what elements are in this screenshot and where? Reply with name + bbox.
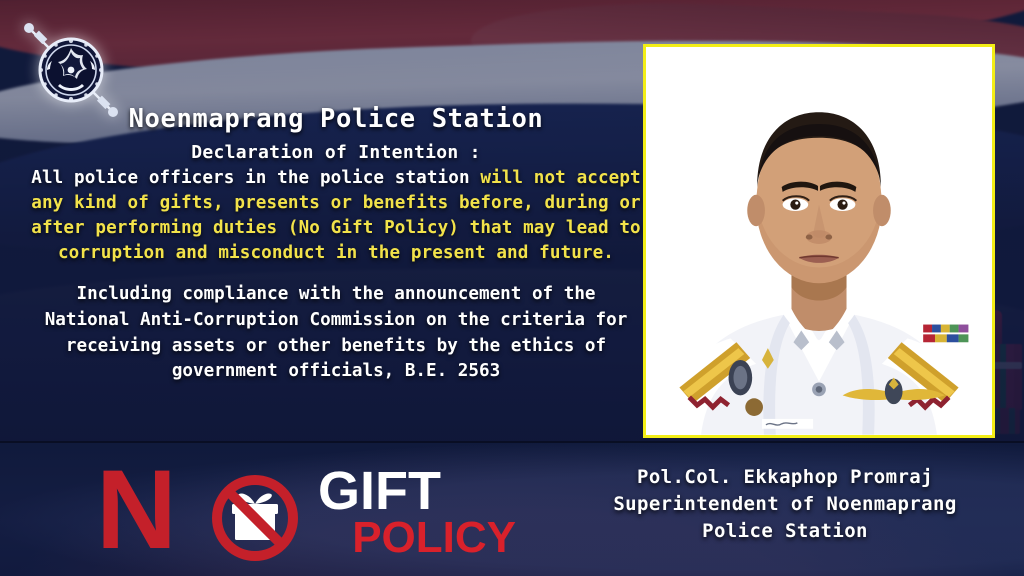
logo-policy-word: POLICY [318,516,516,560]
banner-divider [0,441,1024,443]
no-gift-policy-logo: N GIFT POLICY [96,452,516,564]
declaration-paragraph-2: Including compliance with the announceme… [30,282,642,385]
signature-position: Superintendent of Noenmaprang [560,491,1010,518]
declaration-block: Noenmaprang Police Station Declaration o… [30,104,642,385]
page-title: Noenmaprang Police Station [30,104,642,135]
signature-station: Police Station [560,518,1010,545]
declaration-subtitle: Declaration of Intention : [30,142,642,163]
declaration-plain-lead: All police officers in the police statio… [31,168,480,188]
logo-letter-n: N [96,454,173,566]
declaration-highlight-willnot: will not [480,168,566,188]
declaration-paragraph-1: All police officers in the police statio… [30,166,642,267]
signature-block: Pol.Col. Ekkaphop Promraj Superintendent… [560,464,1010,545]
portrait-photo [643,44,995,438]
no-gift-prohibition-icon [211,474,299,562]
logo-gift-word: GIFT [318,464,441,518]
signature-name: Pol.Col. Ekkaphop Promraj [560,464,1010,491]
no-gift-policy-poster: Noenmaprang Police Station Declaration o… [0,0,1024,576]
